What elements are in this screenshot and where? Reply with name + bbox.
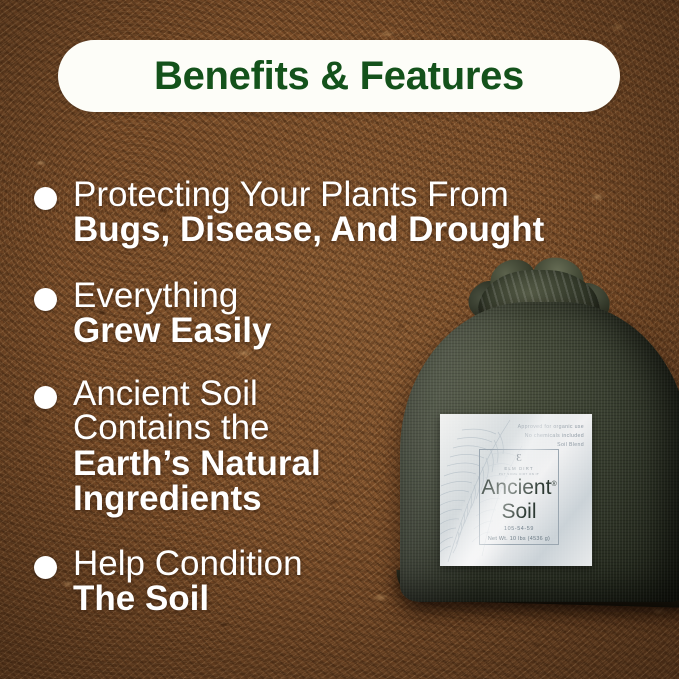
brand-mark: Ɛ ELM DIRT PUT SOME DIRT ON IT bbox=[480, 453, 558, 476]
label-fine-print: Approved for organic use No chemicals in… bbox=[518, 423, 584, 450]
list-item-text: Help Condition The Soil bbox=[73, 547, 303, 617]
benefit-2-bold: Grew Easily bbox=[73, 311, 271, 350]
bullet-dot-icon bbox=[34, 556, 57, 579]
benefit-3-bold-1: Earth’s Natural bbox=[73, 444, 321, 483]
list-item-text: Everything Grew Easily bbox=[73, 279, 271, 349]
benefit-2-light: Everything bbox=[73, 276, 238, 315]
bullet-dot-icon bbox=[34, 187, 57, 210]
product-bag: Approved for organic use No chemicals in… bbox=[382, 258, 679, 608]
list-item-text: Ancient Soil Contains the Earth’s Natura… bbox=[73, 377, 321, 517]
label-fine-print-line-1: Approved for organic use bbox=[518, 423, 584, 432]
benefit-4-light: Help Condition bbox=[73, 544, 303, 583]
brand-name: ELM DIRT bbox=[480, 466, 558, 471]
list-item-text: Protecting Your Plants From Bugs, Diseas… bbox=[73, 178, 544, 248]
list-item: Protecting Your Plants From Bugs, Diseas… bbox=[34, 178, 634, 248]
benefit-3-light-1: Ancient Soil bbox=[73, 374, 258, 413]
bullet-dot-icon bbox=[34, 288, 57, 311]
product-feature-graphic: Benefits & Features Protecting Your Plan… bbox=[0, 0, 679, 679]
label-fine-print-line-2: No chemicals included bbox=[518, 432, 584, 441]
product-title-line-1: Ancient® bbox=[480, 477, 558, 498]
benefit-1-bold: Bugs, Disease, And Drought bbox=[73, 210, 544, 249]
benefit-4-bold: The Soil bbox=[73, 579, 209, 618]
benefit-1-light: Protecting Your Plants From bbox=[73, 175, 509, 214]
product-title-word-1: Ancient bbox=[481, 476, 551, 499]
benefit-3-light-2: Contains the bbox=[73, 408, 270, 447]
bullet-dot-icon bbox=[34, 386, 57, 409]
label-inner-frame: Ɛ ELM DIRT PUT SOME DIRT ON IT Ancient® … bbox=[479, 449, 559, 545]
product-net-weight: Net Wt. 10 lbs (4536 g) bbox=[480, 536, 558, 542]
brand-glyph-icon: Ɛ bbox=[480, 453, 558, 464]
product-sku: 105-54-59 bbox=[480, 526, 558, 532]
product-title-line-2: Soil bbox=[480, 501, 558, 522]
benefit-3-bold-2: Ingredients bbox=[73, 479, 262, 518]
page-title: Benefits & Features bbox=[154, 54, 524, 99]
product-label: Approved for organic use No chemicals in… bbox=[440, 414, 592, 566]
trademark-symbol: ® bbox=[551, 481, 556, 488]
header-pill: Benefits & Features bbox=[58, 40, 620, 112]
